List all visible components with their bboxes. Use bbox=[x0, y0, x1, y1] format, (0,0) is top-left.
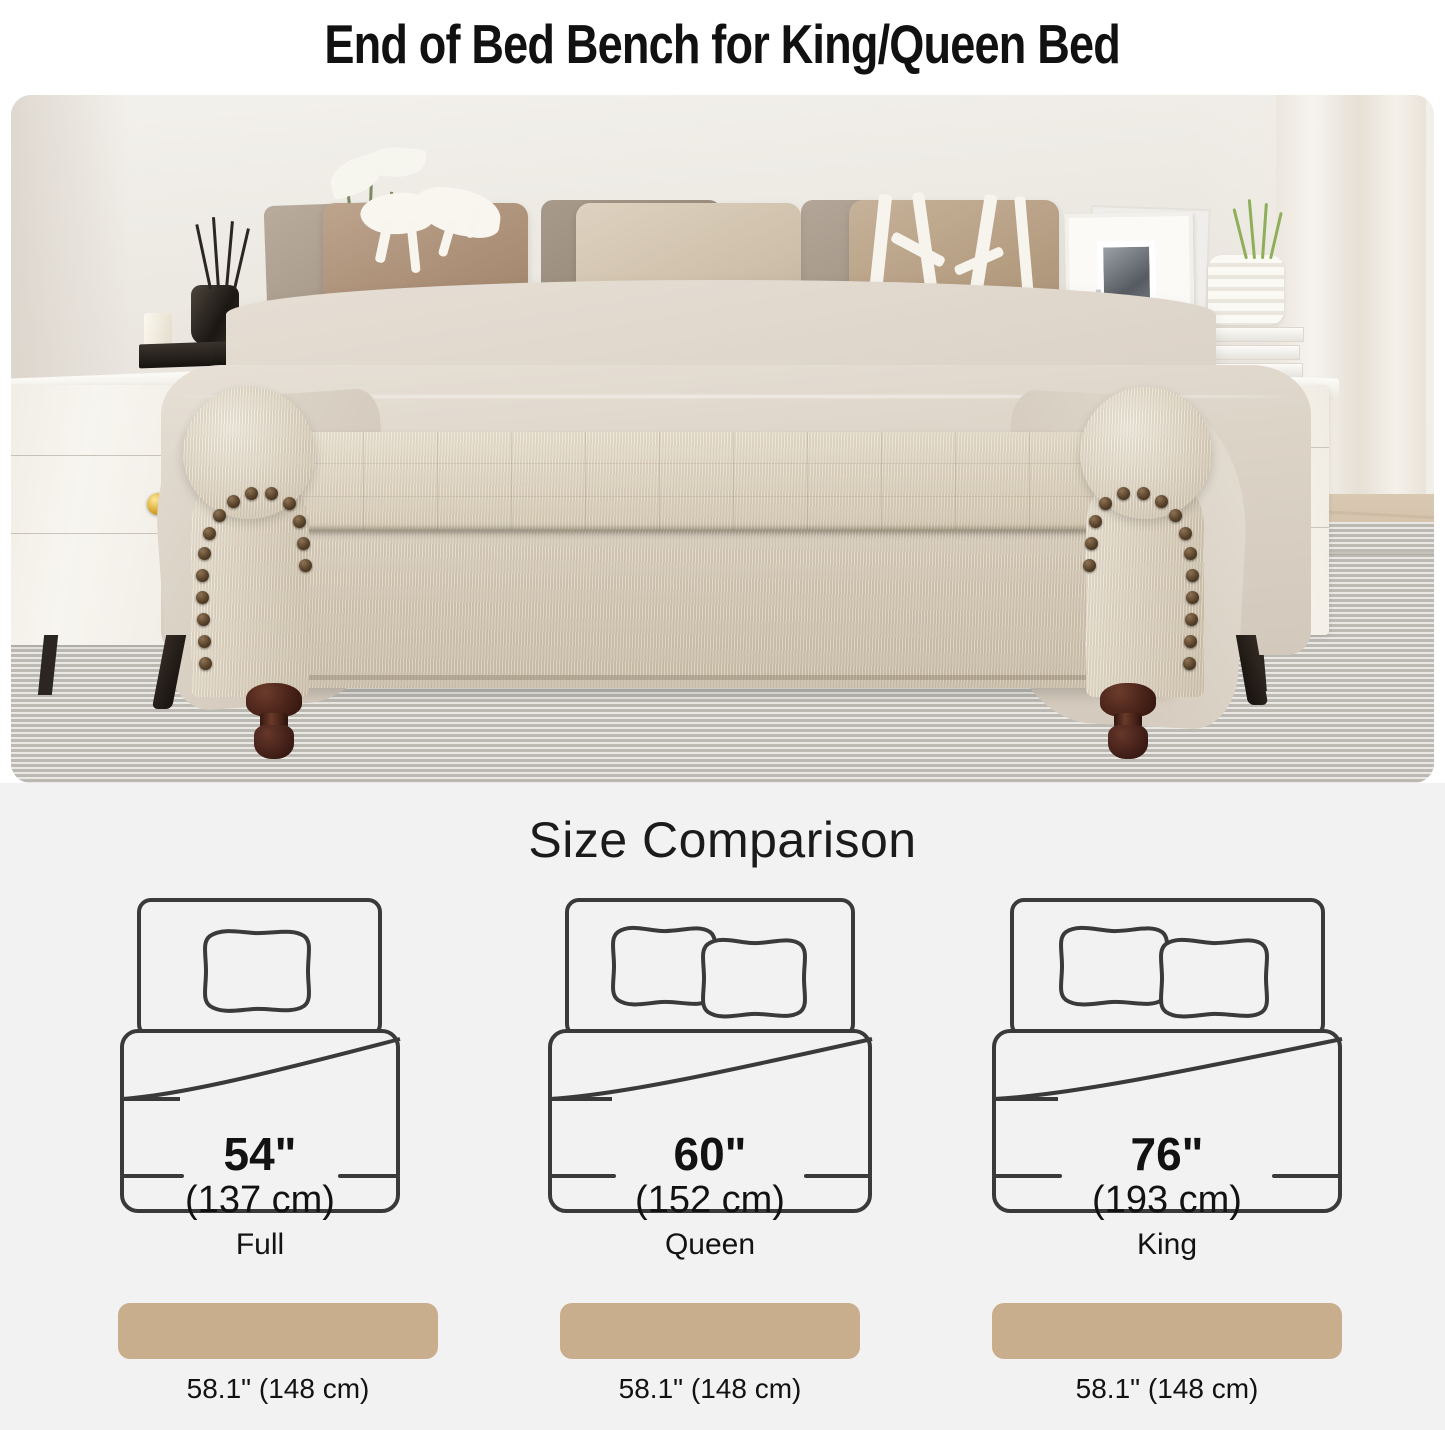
product-lifestyle-photo bbox=[11, 95, 1434, 783]
nailhead-icon bbox=[283, 497, 296, 510]
tufting-grid bbox=[289, 432, 1179, 530]
lid-shadow bbox=[289, 527, 1179, 533]
nailhead-trim-left bbox=[183, 387, 315, 697]
nailhead-icon bbox=[203, 527, 216, 540]
nailhead-icon bbox=[299, 559, 312, 572]
leg-top bbox=[246, 683, 302, 717]
nailhead-icon bbox=[245, 487, 258, 500]
nailhead-icon bbox=[1099, 497, 1112, 510]
duvet-fold-curve bbox=[548, 1029, 874, 1129]
nailhead-icon bbox=[1083, 559, 1096, 572]
nailhead-icon bbox=[1186, 591, 1199, 604]
nailhead-icon bbox=[1179, 527, 1192, 540]
dimension-label-queen: 60" (152 cm) bbox=[548, 1130, 872, 1221]
bed-name-king: King bbox=[992, 1228, 1342, 1262]
dimension-cm: (137 cm) bbox=[120, 1180, 400, 1221]
bench-bar-group-full: 58.1" (148 cm) bbox=[0, 1303, 500, 1423]
nailhead-icon bbox=[1155, 495, 1168, 508]
bench-fabric-texture bbox=[294, 520, 1172, 688]
bench-width-bar bbox=[560, 1303, 860, 1359]
nailhead-icon bbox=[227, 495, 240, 508]
page-title: End of Bed Bench for King/Queen Bed bbox=[325, 12, 1121, 76]
bench-base-trim bbox=[294, 675, 1172, 680]
nailhead-icon bbox=[297, 537, 310, 550]
bench-bar-group-queen: 58.1" (148 cm) bbox=[450, 1303, 950, 1423]
dimension-cm: (152 cm) bbox=[548, 1180, 872, 1221]
duvet-fold-curve bbox=[120, 1029, 402, 1129]
size-comparison-section: Size Comparison 54" (137 cm) bbox=[0, 783, 1445, 1430]
nailhead-icon bbox=[198, 635, 211, 648]
ribbed-vase-right bbox=[1208, 255, 1284, 325]
bench-width-label: 58.1" (148 cm) bbox=[58, 1373, 498, 1405]
leg-foot bbox=[1108, 725, 1148, 759]
bed-name-full: Full bbox=[120, 1228, 400, 1262]
dimension-label-king: 76" (193 cm) bbox=[992, 1130, 1342, 1221]
nailhead-icon bbox=[1186, 569, 1199, 582]
pillar-candle bbox=[144, 313, 172, 347]
bench-base bbox=[294, 520, 1172, 688]
page-title-bar: End of Bed Bench for King/Queen Bed bbox=[0, 0, 1445, 88]
pillow-icon bbox=[192, 926, 322, 1016]
bench-leg-right bbox=[1100, 683, 1156, 757]
dimension-inches: 54" bbox=[120, 1130, 400, 1180]
bed-diagrams-row: 54" (137 cm) Full bbox=[0, 898, 1445, 1298]
nailhead-icon bbox=[196, 569, 209, 582]
bench-width-bar bbox=[992, 1303, 1342, 1359]
bench-rolled-arm-right bbox=[1080, 387, 1212, 697]
duvet-fold-curve bbox=[992, 1029, 1344, 1129]
bench-width-label: 58.1" (148 cm) bbox=[942, 1373, 1392, 1405]
nailhead-icon bbox=[1169, 509, 1182, 522]
nailhead-icon bbox=[196, 591, 209, 604]
leg-foot bbox=[254, 725, 294, 759]
dimension-inches: 76" bbox=[992, 1130, 1342, 1180]
dimension-inches: 60" bbox=[548, 1130, 872, 1180]
bench-width-label: 58.1" (148 cm) bbox=[490, 1373, 930, 1405]
bench-leg-left bbox=[246, 683, 302, 757]
nailhead-icon bbox=[1089, 515, 1102, 528]
nailhead-icon bbox=[1183, 657, 1196, 670]
nailhead-trim-right bbox=[1080, 387, 1212, 697]
nailhead-icon bbox=[1184, 547, 1197, 560]
bench-tufted-seat-lid bbox=[289, 432, 1179, 530]
size-comparison-title: Size Comparison bbox=[0, 811, 1445, 869]
nailhead-icon bbox=[197, 613, 210, 626]
dimension-label-full: 54" (137 cm) bbox=[120, 1130, 400, 1221]
nailhead-icon bbox=[1085, 537, 1098, 550]
bench-bar-group-king: 58.1" (148 cm) bbox=[900, 1303, 1445, 1423]
nailhead-icon bbox=[213, 509, 226, 522]
nailhead-icon bbox=[198, 547, 211, 560]
leg-top bbox=[1100, 683, 1156, 717]
bench-width-bar bbox=[118, 1303, 438, 1359]
dimension-cm: (193 cm) bbox=[992, 1180, 1342, 1221]
bed-name-queen: Queen bbox=[548, 1228, 872, 1262]
nailhead-icon bbox=[265, 487, 278, 500]
nailhead-icon bbox=[1184, 635, 1197, 648]
nailhead-icon bbox=[293, 515, 306, 528]
nailhead-icon bbox=[199, 657, 212, 670]
pillow-icon-pair bbox=[602, 922, 822, 1022]
bench-rolled-arm-left bbox=[183, 387, 315, 697]
nailhead-icon bbox=[1185, 613, 1198, 626]
nailhead-icon bbox=[1117, 487, 1130, 500]
pillow-icon-pair bbox=[1050, 922, 1290, 1022]
nailhead-icon bbox=[1137, 487, 1150, 500]
